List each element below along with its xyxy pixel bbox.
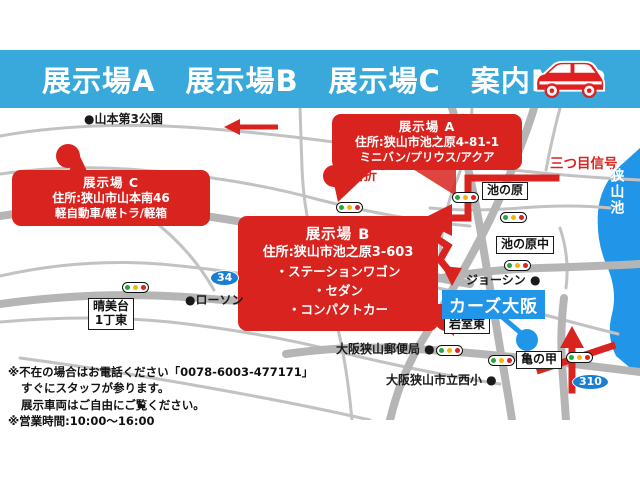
callout-b-item-2: ・コンパクトカー [246,302,430,318]
callout-c-items: 軽自動車/軽トラ/軽箱 [20,206,202,221]
traffic-signal-iwamuro [488,355,515,366]
header-banner: 展示場A 展示場B 展示場C 案内MAP [0,50,640,108]
intersection-label-harumidai: 晴美台 1丁東 [88,298,134,330]
poi-label-lawson: ●ローソン [185,291,243,308]
poi-label-yamamoto-park: ●山本第3公園 [84,110,163,127]
callout-c-title: 展示場 C [20,175,202,191]
callout-a-title: 展示場 A [340,119,514,135]
callout-showroom-a: 展示場 A 住所:狭山市池之原4-81-1 ミニバン/プリウス/アクア [332,114,522,170]
note-line-1: ※不在の場合はお電話ください「0078-6003-477171」 [8,365,313,379]
marker-cars-osaka [516,329,538,351]
callout-b-title: 展示場 B [246,226,430,245]
traffic-signal-ikenohara-east [500,212,527,223]
callout-b-item-0: ・ステーションワゴン [246,264,430,280]
intersection-harumidai-line2: 1丁東 [95,313,127,327]
intersection-label-ikenohara: 池の原 [482,182,528,200]
label-sayama-pond: 狭山池 [608,168,623,216]
note-line-4: ※営業時間:10:00〜16:00 [8,414,155,428]
map-flyer: 展示場A 展示場B 展示場C 案内MAP [0,0,640,480]
callout-b-item-1: ・セダン [246,283,430,299]
footer-note: ※不在の場合はお電話ください「0078-6003-477171」 すぐにスタッフ… [8,364,313,429]
note-line-2: すぐにスタッフが参ります。 [8,380,313,396]
traffic-signal-post-office [436,345,463,356]
red-car-icon [530,58,608,100]
intersection-label-kamenoko: 亀の甲 [516,351,562,369]
label-cars-osaka: カーズ大阪 [442,290,545,319]
traffic-signal-kamenoko [566,352,593,363]
poi-label-nishi-elementary: 大阪狭山市立西小 ● [386,371,497,388]
traffic-signal-north [336,202,363,213]
label-turn-right: 右折 [350,164,377,184]
callout-b-address: 住所:狭山市池之原3-603 [246,245,430,262]
intersection-label-ikenoharanaka: 池の原中 [496,236,554,254]
traffic-signal-ikenoharanaka [504,260,531,271]
traffic-signal-harumidai [122,282,149,293]
poi-label-post-office: 大阪狭山郵便局 ● [336,340,435,357]
route-shield-310: 310 [572,374,609,390]
intersection-harumidai-line1: 晴美台 [93,299,129,313]
callout-a-items: ミニバン/プリウス/アクア [340,150,514,165]
callout-c-address: 住所:狭山市山本南46 [20,191,202,206]
page-title: 展示場A 展示場B 展示場C 案内MAP [42,58,606,100]
callout-showroom-b: 展示場 B 住所:狭山市池之原3-603 ・ステーションワゴン ・セダン ・コン… [238,216,438,331]
callout-a-address: 住所:狭山市池之原4-81-1 [340,135,514,150]
note-line-3: 展示車両はご自由にご覧ください。 [8,397,313,413]
callout-showroom-c: 展示場 C 住所:狭山市山本南46 軽自動車/軽トラ/軽箱 [12,170,210,226]
poi-label-joshin: ジョーシン ● [466,271,540,288]
traffic-signal-ikenohara [452,192,479,203]
